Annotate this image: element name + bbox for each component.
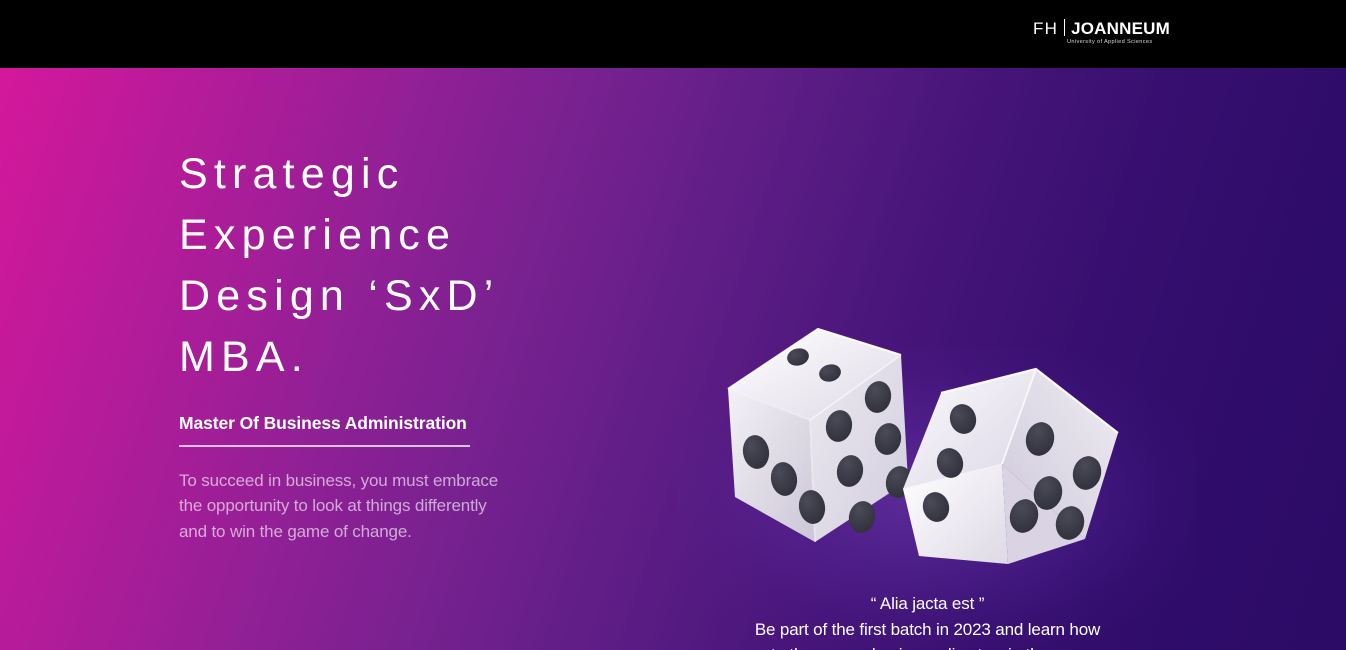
hero-illustration-column: “ Alia jacta est ” Be part of the first … bbox=[700, 136, 1155, 650]
dice-illustration bbox=[718, 311, 1138, 576]
fh-joanneum-logo[interactable]: FH JOANNEUM University of Applied Scienc… bbox=[1033, 17, 1170, 46]
die-left bbox=[728, 329, 915, 542]
logo-subtitle: University of Applied Sciences bbox=[1067, 40, 1170, 46]
hero-text-column: Strategic Experience Design ‘SxD’ MBA. M… bbox=[179, 144, 649, 544]
logo-divider-icon bbox=[1064, 19, 1065, 36]
top-header-bar: FH JOANNEUM University of Applied Scienc… bbox=[0, 0, 1346, 68]
title-divider bbox=[179, 445, 470, 447]
landing-page: FH JOANNEUM University of Applied Scienc… bbox=[0, 0, 1346, 650]
logo-name: JOANNEUM bbox=[1071, 20, 1170, 37]
hero-description: To succeed in business, you must embrace… bbox=[179, 468, 649, 545]
dice-caption: “ Alia jacta est ” Be part of the first … bbox=[700, 591, 1155, 650]
page-subtitle: Master Of Business Administration bbox=[179, 413, 649, 434]
logo-wordmark: FH JOANNEUM bbox=[1033, 17, 1170, 37]
logo-prefix: FH bbox=[1033, 20, 1058, 37]
dice-icon bbox=[718, 311, 1138, 576]
page-title: Strategic Experience Design ‘SxD’ MBA. bbox=[179, 144, 649, 388]
hero-section: Strategic Experience Design ‘SxD’ MBA. M… bbox=[0, 68, 1346, 650]
die-right bbox=[903, 369, 1118, 564]
